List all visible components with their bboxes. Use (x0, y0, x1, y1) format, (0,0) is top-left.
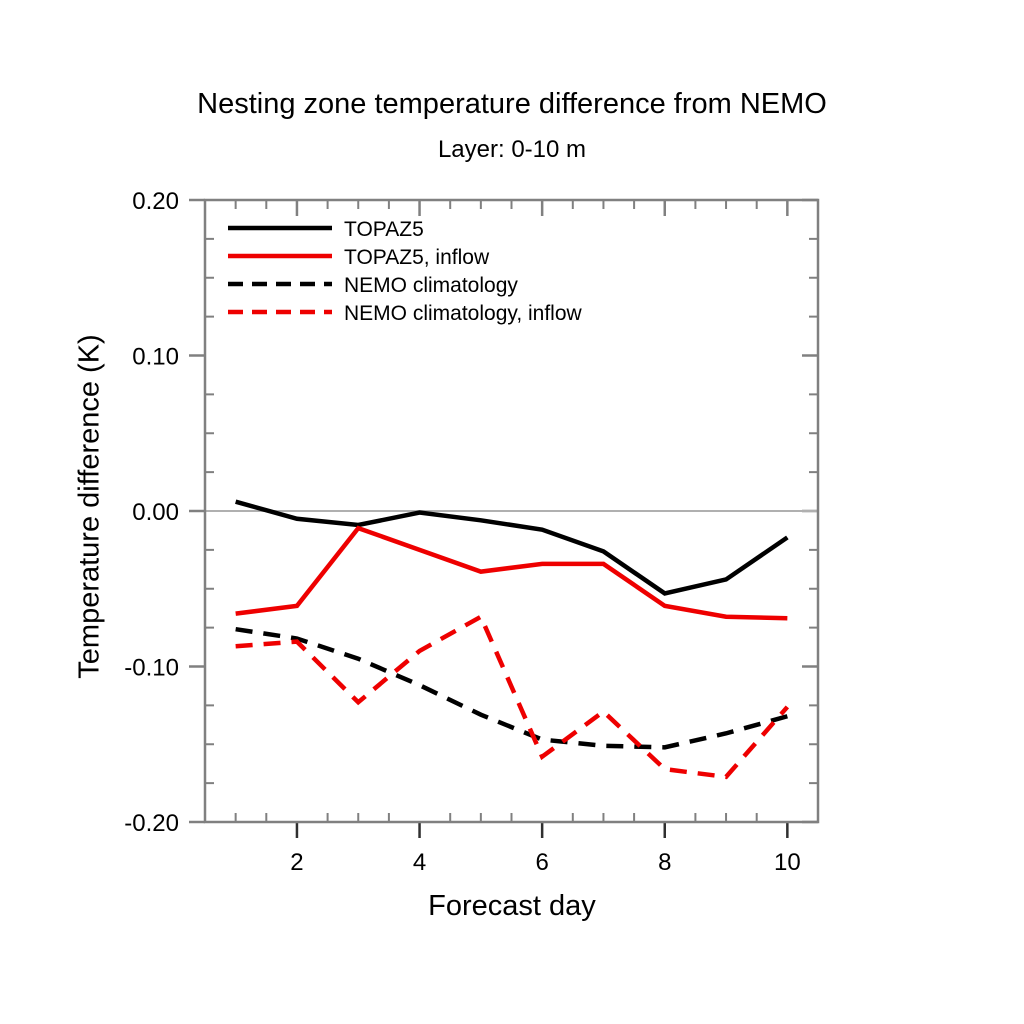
y-tick-label: -0.10 (124, 655, 179, 682)
legend-label-3: NEMO climatology, inflow (344, 302, 583, 325)
series-line-3 (236, 617, 788, 777)
chart-page: Nesting zone temperature difference from… (0, 0, 1024, 1024)
y-tick-label: 0.00 (132, 499, 179, 526)
data-series-group (236, 502, 788, 777)
x-tick-label: 10 (774, 849, 801, 876)
series-line-1 (236, 528, 788, 618)
legend: TOPAZ5TOPAZ5, inflowNEMO climatologyNEMO… (228, 218, 583, 325)
x-tick-label: 4 (413, 849, 426, 876)
x-tick-label: 2 (290, 849, 303, 876)
x-tick-label: 8 (658, 849, 671, 876)
y-tick-label: -0.20 (124, 810, 179, 837)
y-tick-label: 0.10 (132, 344, 179, 371)
plot-canvas: 0.200.100.00-0.10-0.20246810 TOPAZ5TOPAZ… (0, 0, 1024, 1024)
legend-label-2: NEMO climatology (344, 274, 518, 297)
legend-label-0: TOPAZ5 (344, 218, 424, 241)
x-tick-label: 6 (535, 849, 548, 876)
y-tick-label: 0.20 (132, 188, 179, 215)
legend-label-1: TOPAZ5, inflow (344, 246, 490, 269)
